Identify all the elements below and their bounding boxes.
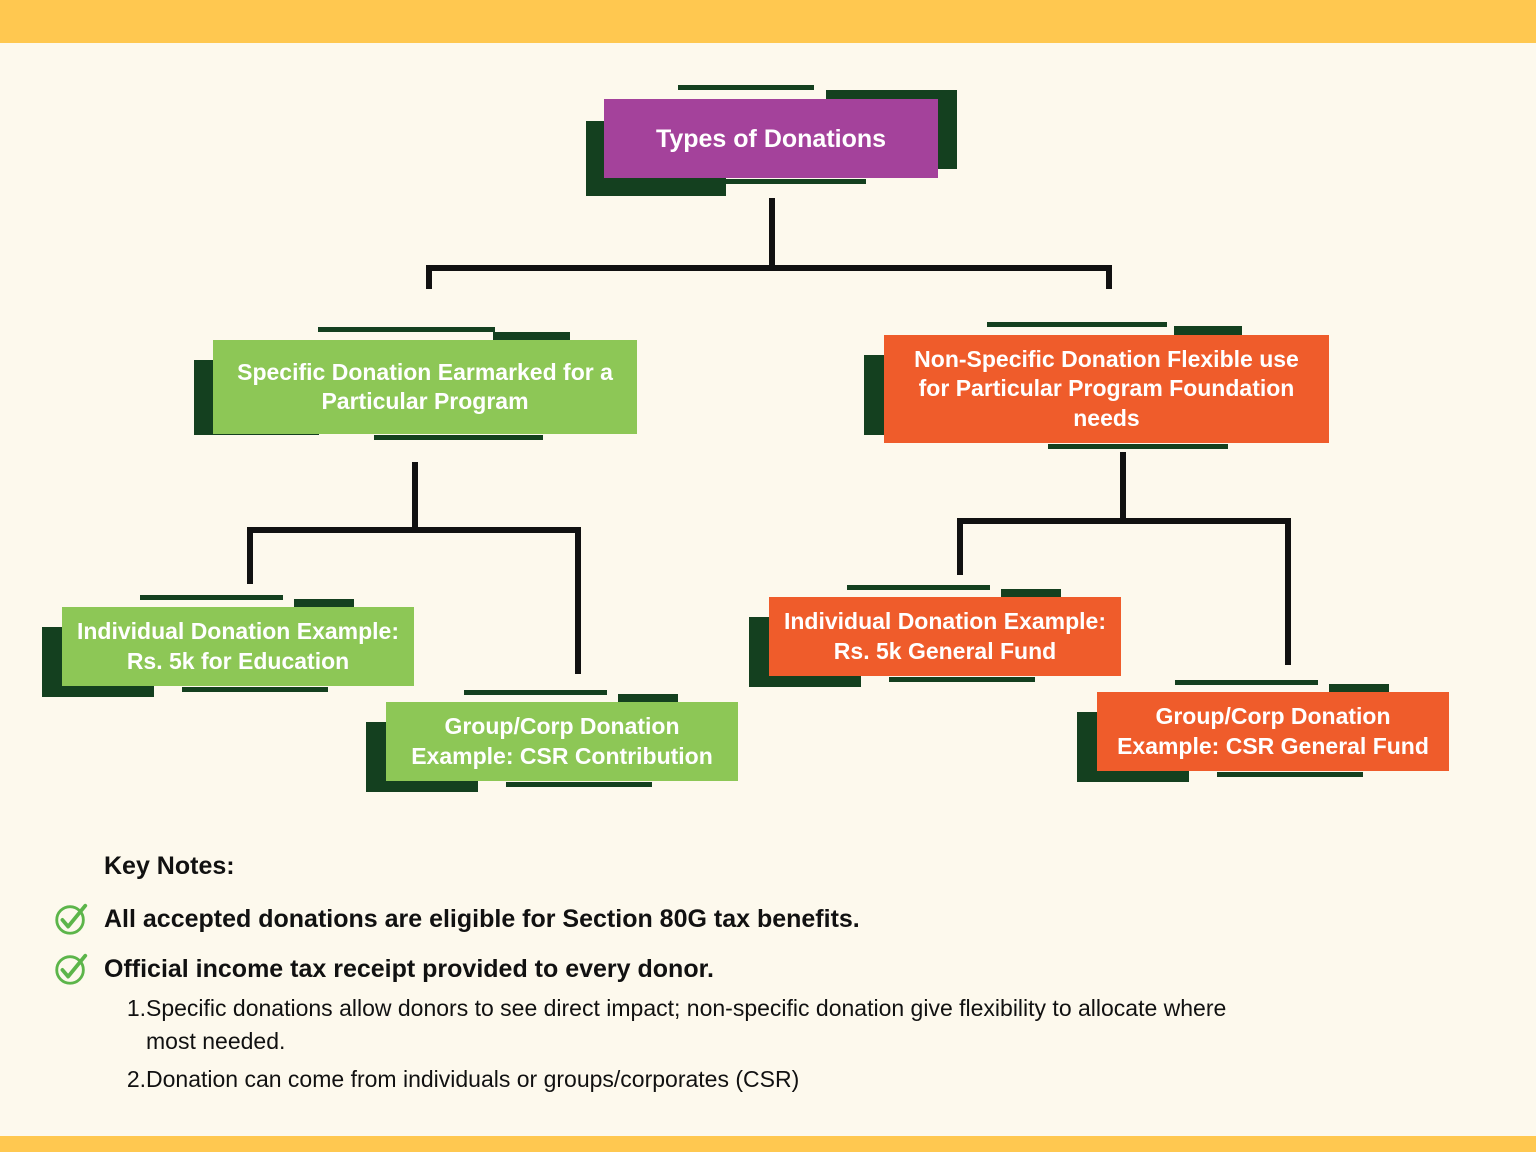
check-circle-icon [52, 900, 90, 938]
connector-root-drop-left [426, 265, 432, 289]
connector-left-drop-second [575, 527, 581, 674]
node-label: Non-Specific Donation Flexible use for P… [884, 335, 1329, 443]
node-accent-line-bottom [1217, 772, 1363, 777]
node-label: Types of Donations [604, 99, 938, 178]
key-notes-ordered-list: 1. Specific donations allow donors to se… [122, 992, 1342, 1102]
node-label: Group/Corp Donation Example: CSR General… [1097, 692, 1449, 771]
node-accent-line-bottom [1048, 444, 1228, 449]
connector-right-stem [1120, 452, 1126, 520]
node-types-of-donations[interactable]: Types of Donations [604, 99, 938, 178]
node-label: Group/Corp Donation Example: CSR Contrib… [386, 702, 738, 781]
node-nonspecific-group-example[interactable]: Group/Corp Donation Example: CSR General… [1097, 692, 1449, 771]
key-note-item: Official income tax receipt provided to … [52, 950, 714, 988]
node-label: Individual Donation Example: Rs. 5k Gene… [769, 597, 1121, 676]
node-accent-line-top [464, 690, 607, 695]
list-item: 2. Donation can come from individuals or… [122, 1063, 1342, 1096]
connector-root-drop-right [1106, 265, 1112, 289]
connector-right-drop-first [957, 518, 963, 575]
connector-right-horizontal [957, 518, 1291, 524]
key-note-text: All accepted donations are eligible for … [104, 905, 860, 934]
list-item-number: 2. [122, 1063, 146, 1096]
node-accent-line-bottom [374, 435, 543, 440]
node-accent-line-bottom [724, 179, 866, 184]
list-item-text: Donation can come from individuals or gr… [146, 1063, 799, 1096]
node-accent-line-top [318, 327, 495, 332]
node-accent-line-top [140, 595, 283, 600]
node-label: Specific Donation Earmarked for a Partic… [213, 340, 637, 434]
node-accent-line-top [1175, 680, 1318, 685]
key-note-text: Official income tax receipt provided to … [104, 955, 714, 984]
node-accent-line-top [847, 585, 990, 590]
node-accent-line-bottom [506, 782, 652, 787]
connector-root-horizontal [426, 265, 1112, 271]
check-circle-icon [52, 950, 90, 988]
connector-left-stem [412, 462, 418, 530]
key-notes-title: Key Notes: [104, 852, 235, 881]
connector-right-drop-second [1285, 518, 1291, 665]
connector-left-horizontal [247, 527, 581, 533]
node-accent-line-bottom [182, 687, 328, 692]
node-specific-individual-example[interactable]: Individual Donation Example: Rs. 5k for … [62, 607, 414, 686]
node-accent-line-top [987, 322, 1167, 327]
node-nonspecific-individual-example[interactable]: Individual Donation Example: Rs. 5k Gene… [769, 597, 1121, 676]
node-label: Individual Donation Example: Rs. 5k for … [62, 607, 414, 686]
node-accent-line-bottom [889, 677, 1035, 682]
connector-root-stem [769, 198, 775, 270]
node-specific-group-example[interactable]: Group/Corp Donation Example: CSR Contrib… [386, 702, 738, 781]
connector-left-drop-first [247, 527, 253, 584]
node-accent-line-top [678, 85, 814, 90]
node-specific-donation[interactable]: Specific Donation Earmarked for a Partic… [213, 340, 637, 434]
key-note-item: All accepted donations are eligible for … [52, 900, 860, 938]
node-non-specific-donation[interactable]: Non-Specific Donation Flexible use for P… [884, 335, 1329, 443]
list-item-text: Specific donations allow donors to see d… [146, 992, 1276, 1057]
list-item: 1. Specific donations allow donors to se… [122, 992, 1342, 1057]
list-item-number: 1. [122, 992, 146, 1025]
